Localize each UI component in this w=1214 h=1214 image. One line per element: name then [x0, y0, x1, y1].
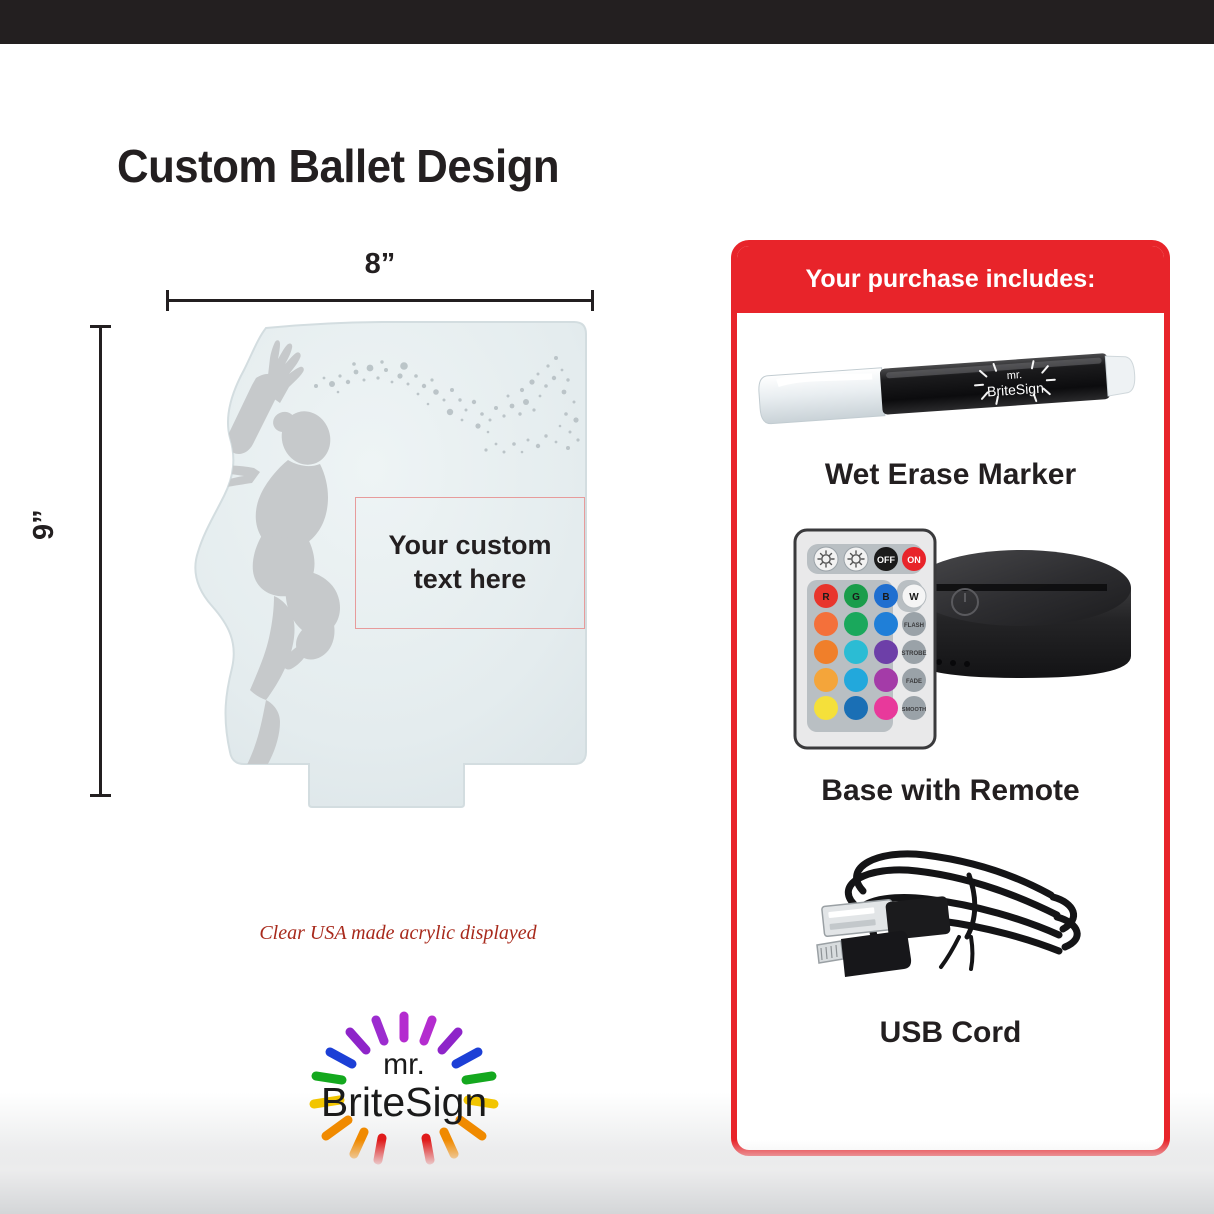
- include-item-usb-cord: USB Cord: [737, 836, 1164, 1050]
- remote-control[interactable]: OFF ON R: [795, 530, 935, 748]
- include-label-marker: Wet Erase Marker: [737, 458, 1164, 492]
- marker-icon: mr. BriteSign: [751, 321, 1151, 451]
- led-base: [911, 550, 1131, 678]
- logo-text-britesign: BriteSign: [321, 1079, 487, 1125]
- acrylic-panel: Your custom text here: [178, 320, 598, 810]
- bottom-gradient-strip: [0, 1140, 1214, 1214]
- custom-text-line-2: text here: [414, 563, 527, 597]
- base-remote-figure: OFF ON R: [737, 526, 1164, 756]
- usb-cord-figure: [737, 836, 1164, 1006]
- page-title: Custom Ballet Design: [117, 139, 559, 193]
- acrylic-caption: Clear USA made acrylic displayed: [138, 922, 658, 945]
- include-label-usb-cord: USB Cord: [737, 1016, 1164, 1050]
- top-black-bar: [0, 0, 1214, 44]
- marker-figure: mr. BriteSign: [737, 313, 1164, 458]
- svg-text:FLASH: FLASH: [904, 623, 924, 629]
- product-listing-image: Custom Ballet Design 8” 9”: [0, 0, 1214, 1214]
- logo-text-mr: mr.: [383, 1048, 425, 1081]
- width-dimension-line: [166, 290, 594, 310]
- svg-text:G: G: [852, 592, 860, 603]
- purchase-includes-card: Your purchase includes:: [731, 240, 1170, 1156]
- usb-cord-icon: [801, 841, 1101, 1001]
- include-item-base-remote: OFF ON R: [737, 526, 1164, 808]
- purchase-includes-body: mr. BriteSign Wet Erase Marker: [737, 313, 1164, 1050]
- svg-text:R: R: [822, 592, 830, 603]
- custom-text-placeholder-box[interactable]: Your custom text here: [355, 497, 585, 629]
- include-label-base-remote: Base with Remote: [737, 774, 1164, 808]
- micro-usb-connector: [817, 931, 911, 977]
- include-item-marker: mr. BriteSign Wet Erase Marker: [737, 313, 1164, 492]
- svg-text:STROBE: STROBE: [901, 651, 926, 657]
- svg-text:SMOOTH: SMOOTH: [901, 707, 925, 713]
- svg-text:OFF: OFF: [877, 555, 895, 565]
- svg-text:mr.: mr.: [1006, 369, 1022, 382]
- purchase-includes-header: Your purchase includes:: [737, 246, 1164, 313]
- svg-text:ON: ON: [907, 555, 921, 565]
- svg-text:W: W: [909, 592, 919, 603]
- width-dimension-label: 8”: [166, 248, 594, 281]
- custom-text-line-1: Your custom: [388, 529, 551, 563]
- height-dimension-label: 9”: [28, 509, 61, 540]
- height-dimension-line: [90, 325, 110, 797]
- svg-text:FADE: FADE: [905, 679, 921, 685]
- base-remote-icon: OFF ON R: [761, 526, 1141, 756]
- svg-text:B: B: [882, 592, 889, 603]
